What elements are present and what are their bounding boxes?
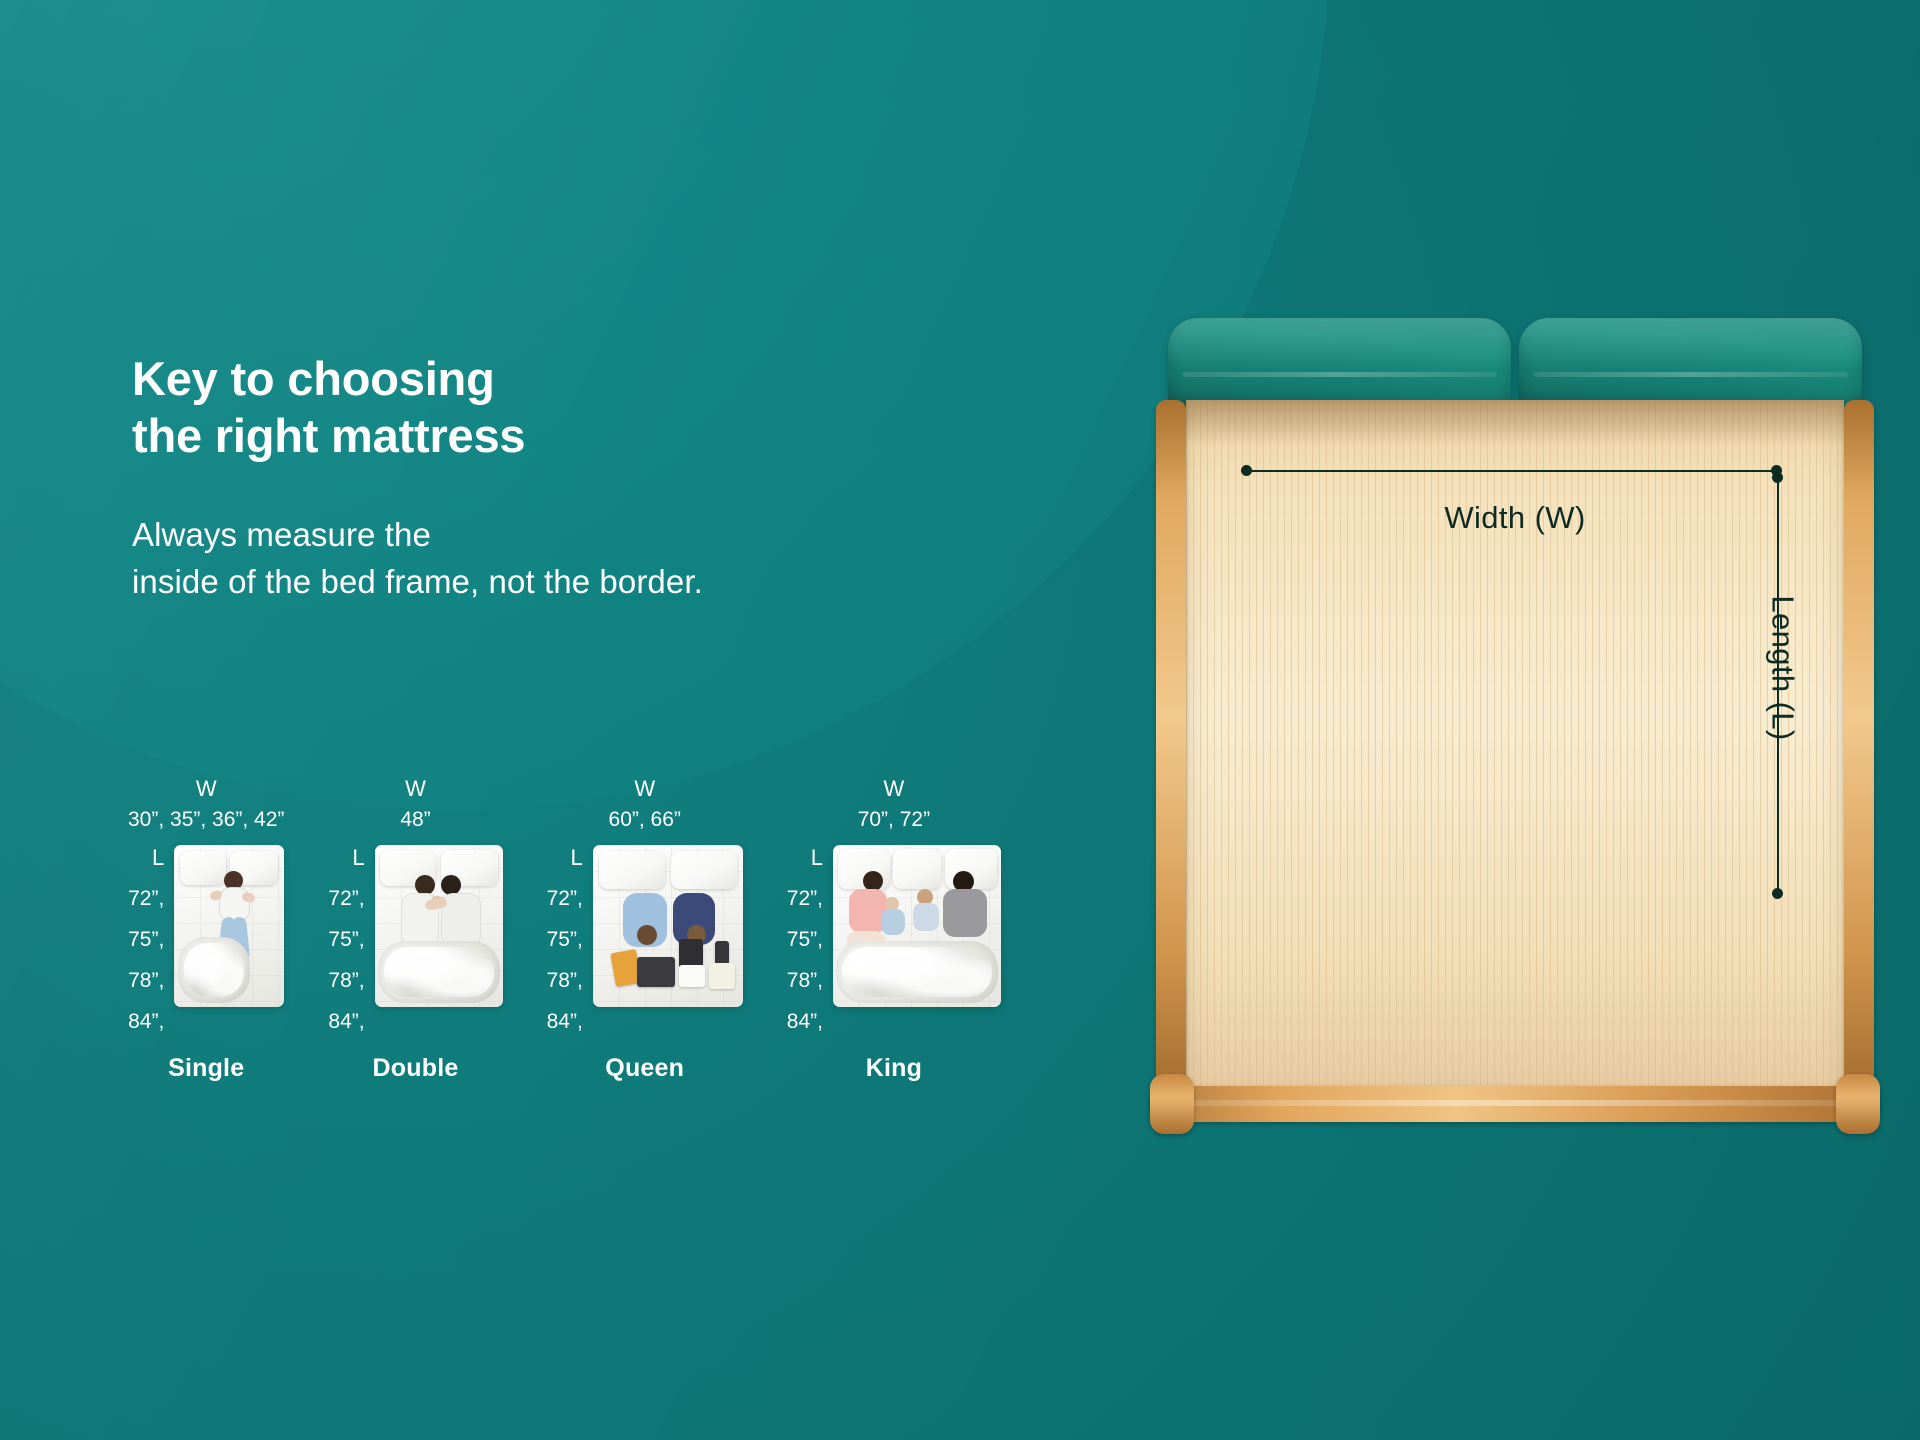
length-value: 72”, (328, 888, 364, 909)
length-value: 75”, (328, 929, 364, 950)
mattress-size-cards: W 30”, 35”, 36”, 42” L 72”, 75”, 78”, 84… (128, 778, 1001, 1083)
width-endpoint-left-dot (1241, 465, 1252, 476)
bed-base-shadow (1186, 400, 1844, 446)
page-title: Key to choosing the right mattress (132, 350, 832, 465)
length-letter-double: L (352, 847, 364, 869)
infographic-canvas: Key to choosing the right mattress Alway… (0, 0, 1920, 1440)
length-letter-queen: L (571, 847, 583, 869)
page-subtitle-line-2: inside of the bed frame, not the border. (132, 563, 703, 600)
length-value: 78”, (128, 970, 164, 991)
length-column-single: L 72”, 75”, 78”, 84”, (128, 845, 164, 1032)
length-endpoint-bottom-dot (1772, 888, 1783, 899)
length-value: 75”, (547, 929, 583, 950)
size-card-king[interactable]: W 70”, 72” L 72”, 75”, 78”, 84”, (787, 778, 1001, 1083)
object-laptop (637, 957, 675, 987)
bed-frame-diagram: Width (W) Length (L) (1150, 318, 1880, 1158)
length-column-double: L 72”, 75”, 78”, 84”, (328, 845, 364, 1032)
page-title-line-1: Key to choosing (132, 352, 495, 405)
bed-photo-king (833, 845, 1001, 1007)
side-rail-right (1844, 400, 1874, 1104)
length-value: 75”, (787, 929, 823, 950)
headline-block: Key to choosing the right mattress Alway… (132, 350, 832, 606)
page-title-line-2: the right mattress (132, 409, 525, 462)
length-column-king: L 72”, 75”, 78”, 84”, (787, 845, 823, 1032)
foot-rail (1150, 1086, 1880, 1122)
width-measure-line (1246, 470, 1776, 472)
object-phone (715, 941, 729, 965)
width-values-single: 30”, 35”, 36”, 42” (128, 809, 284, 830)
size-card-double[interactable]: W 48” L 72”, 75”, 78”, 84”, (328, 778, 502, 1083)
length-value: 78”, (787, 970, 823, 991)
length-value: 72”, (128, 888, 164, 909)
length-letter-single: L (152, 847, 164, 869)
length-letter-king: L (811, 847, 823, 869)
bed-frame: Width (W) Length (L) (1150, 400, 1880, 1140)
width-label: Width (W) (1350, 500, 1680, 536)
width-letter-queen: W (634, 778, 655, 800)
width-values-queen: 60”, 66” (609, 809, 681, 830)
length-value: 84”, (787, 1011, 823, 1032)
length-value: 84”, (128, 1011, 164, 1032)
width-letter-double: W (405, 778, 426, 800)
size-name-double: Double (373, 1054, 459, 1083)
length-value: 72”, (547, 888, 583, 909)
width-letter-single: W (196, 778, 217, 800)
bed-post-left (1150, 1074, 1194, 1134)
size-name-queen: Queen (605, 1054, 684, 1083)
size-name-king: King (866, 1054, 922, 1083)
bed-photo-double (375, 845, 503, 1007)
object-paper (679, 965, 705, 987)
width-values-king: 70”, 72” (858, 809, 930, 830)
length-value: 84”, (328, 1011, 364, 1032)
size-card-queen[interactable]: W 60”, 66” L 72”, 75”, 78”, 84”, (547, 778, 743, 1083)
width-letter-king: W (884, 778, 905, 800)
length-value: 78”, (547, 970, 583, 991)
length-value: 78”, (328, 970, 364, 991)
length-value: 84”, (547, 1011, 583, 1032)
object-folder (709, 963, 735, 989)
length-column-queen: L 72”, 75”, 78”, 84”, (547, 845, 583, 1032)
bed-post-right (1836, 1074, 1880, 1134)
bed-photo-queen (593, 845, 743, 1007)
length-value: 72”, (787, 888, 823, 909)
bed-photo-single (174, 845, 284, 1007)
length-label: Length (L) (1765, 595, 1801, 740)
length-value: 75”, (128, 929, 164, 950)
width-values-double: 48” (400, 809, 430, 830)
page-subtitle-line-1: Always measure the (132, 516, 431, 553)
length-endpoint-top-dot (1772, 472, 1783, 483)
size-name-single: Single (168, 1054, 244, 1083)
side-rail-left (1156, 400, 1186, 1104)
page-subtitle: Always measure the inside of the bed fra… (132, 511, 832, 606)
size-card-single[interactable]: W 30”, 35”, 36”, 42” L 72”, 75”, 78”, 84… (128, 778, 284, 1083)
